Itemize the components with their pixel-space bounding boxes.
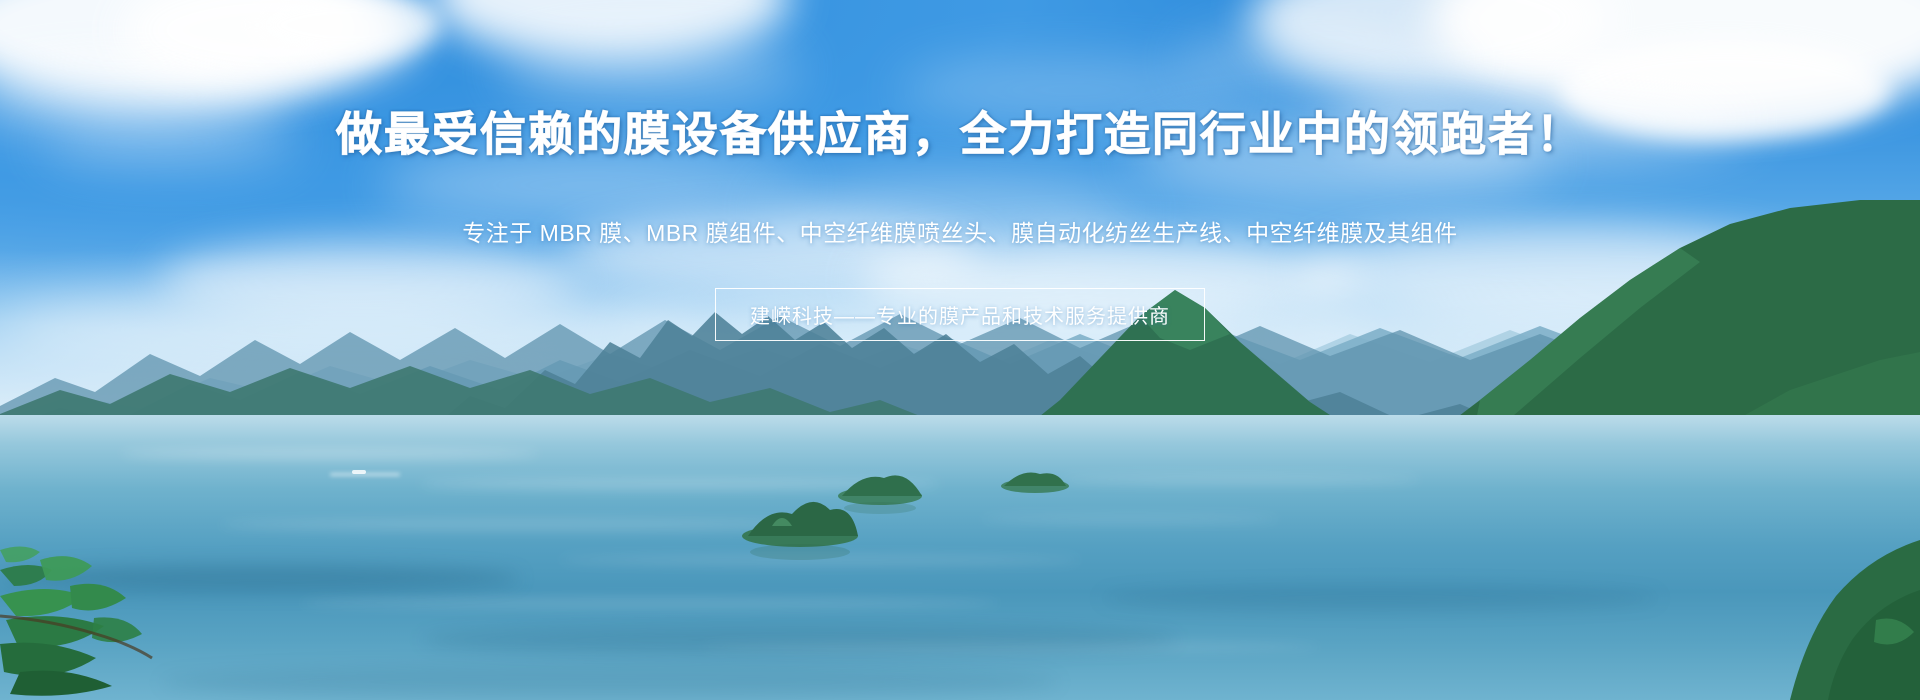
banner-headline: 做最受信赖的膜设备供应商，全力打造同行业中的领跑者！ [0, 98, 1920, 164]
banner-subtitle: 专注于 MBR 膜、MBR 膜组件、中空纤维膜喷丝头、膜自动化纺丝生产线、中空纤… [0, 214, 1920, 248]
hero-banner: 做最受信赖的膜设备供应商，全力打造同行业中的领跑者！ 专注于 MBR 膜、MBR… [0, 0, 1920, 700]
banner-tagline-wrap: 建嵘科技——专业的膜产品和技术服务提供商 [0, 288, 1920, 341]
banner-tagline: 建嵘科技——专业的膜产品和技术服务提供商 [715, 288, 1205, 341]
text-overlay: 做最受信赖的膜设备供应商，全力打造同行业中的领跑者！ 专注于 MBR 膜、MBR… [0, 0, 1920, 700]
